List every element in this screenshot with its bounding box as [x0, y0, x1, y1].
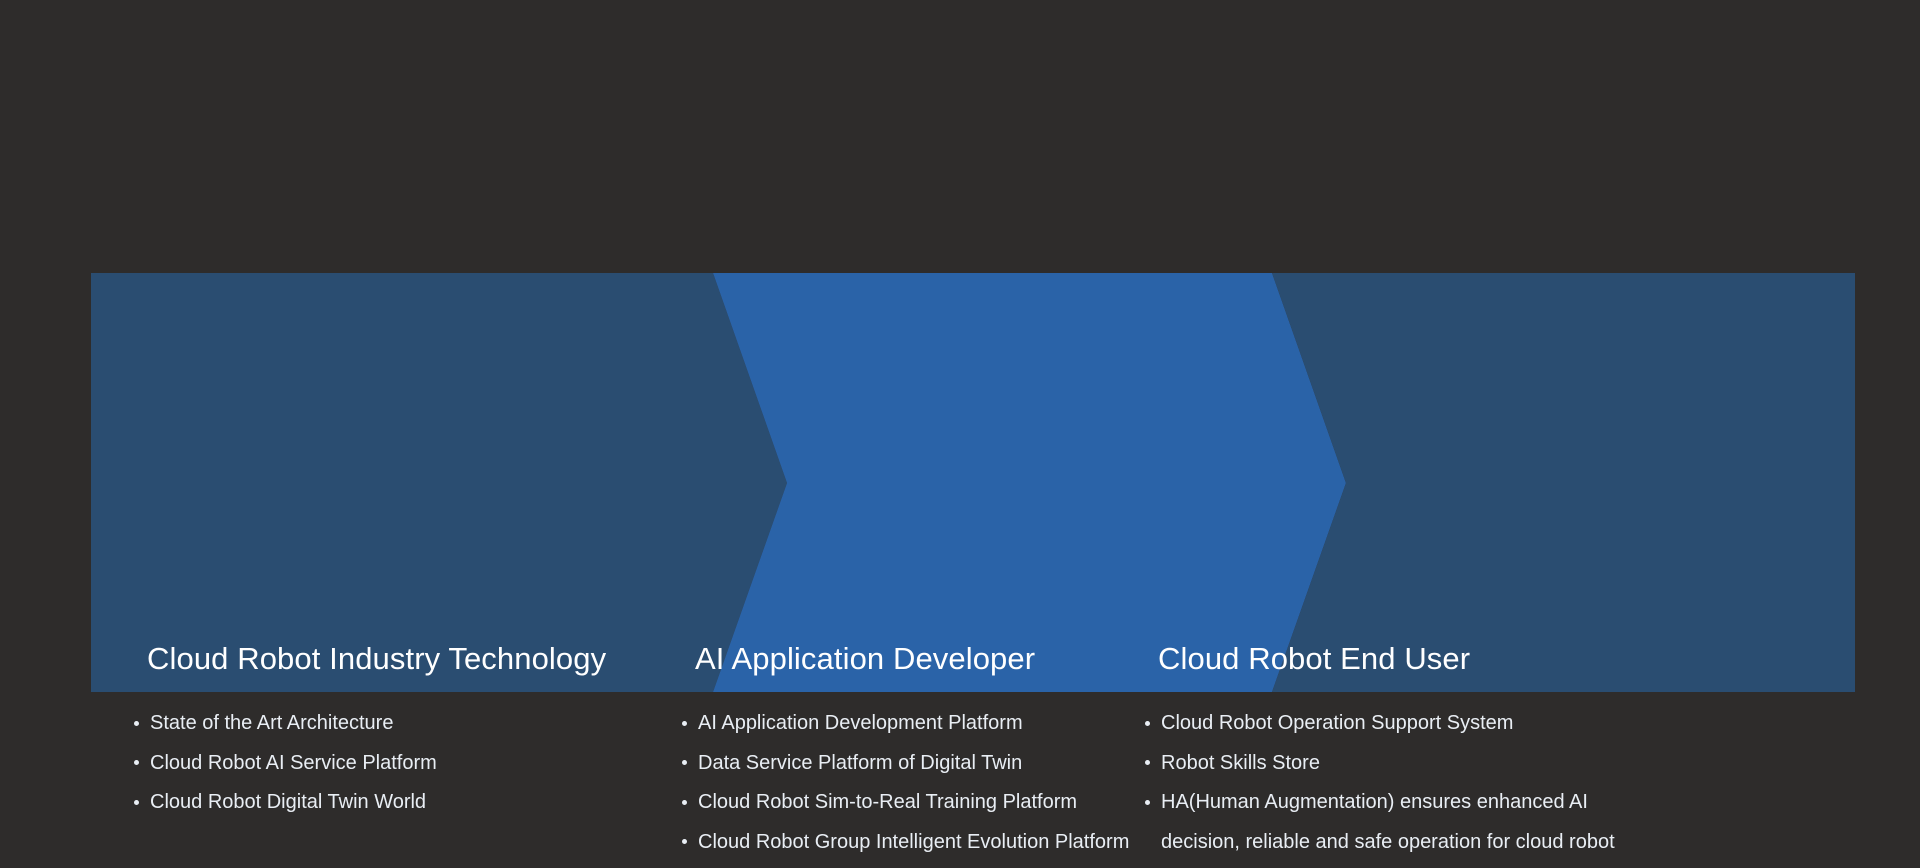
panel-1-bullet-list: State of the Art Architecture Cloud Robo…	[131, 704, 731, 823]
bullet-dot-icon	[134, 721, 139, 726]
panel-1-title: Cloud Robot Industry Technology	[147, 643, 606, 674]
list-item-label: Cloud Robot Operation Support System	[1161, 712, 1513, 734]
bullet-dot-icon	[1145, 760, 1150, 765]
bullet-dot-icon	[1145, 721, 1150, 726]
value-chain-banner: Cloud Robot Industry Technology State of…	[91, 273, 1855, 692]
list-item-label: Cloud Robot Sim-to-Real Training Platfor…	[698, 791, 1077, 813]
list-item: Cloud Robot Digital Twin World	[131, 783, 731, 823]
list-item: Robot Skills Store	[1142, 744, 1642, 784]
list-item: AI Application Development Platform	[679, 704, 1219, 744]
panel-3-inner: Cloud Robot End User Cloud Robot Operati…	[1116, 273, 1855, 692]
panel-content-layer: Cloud Robot Industry Technology State of…	[91, 273, 1855, 692]
panel-3-title: Cloud Robot End User	[1158, 643, 1470, 674]
bullet-dot-icon	[1145, 800, 1150, 805]
list-item-label: HA(Human Augmentation) ensures enhanced …	[1161, 791, 1615, 853]
bullet-dot-icon	[134, 800, 139, 805]
list-item-label: Cloud Robot Digital Twin World	[150, 791, 426, 813]
list-item: Data Service Platform of Digital Twin	[679, 744, 1219, 784]
bullet-dot-icon	[134, 760, 139, 765]
panel-cloud-robot-end-user: Cloud Robot End User Cloud Robot Operati…	[1116, 273, 1855, 692]
list-item: State of the Art Architecture	[131, 704, 731, 744]
list-item: HA(Human Augmentation) ensures enhanced …	[1142, 783, 1642, 862]
bullet-dot-icon	[682, 800, 687, 805]
list-item: Cloud Robot Operation Support System	[1142, 704, 1642, 744]
list-item-label: Cloud Robot Group Intelligent Evolution …	[698, 831, 1129, 853]
list-item-label: State of the Art Architecture	[150, 712, 393, 734]
list-item-label: Robot Skills Store	[1161, 752, 1320, 774]
list-item: Cloud Robot AI Service Platform	[131, 744, 731, 784]
list-item-label: Data Service Platform of Digital Twin	[698, 752, 1022, 774]
bullet-dot-icon	[682, 760, 687, 765]
bullet-dot-icon	[682, 839, 687, 844]
list-item: Cloud Robot Sim-to-Real Training Platfor…	[679, 783, 1219, 823]
list-item-label: Cloud Robot AI Service Platform	[150, 752, 437, 774]
panel-3-bullet-list: Cloud Robot Operation Support System Rob…	[1142, 704, 1642, 862]
list-item: Cloud Robot Group Intelligent Evolution …	[679, 823, 1219, 863]
panel-2-bullet-list: AI Application Development Platform Data…	[679, 704, 1219, 862]
panel-2-title: AI Application Developer	[695, 643, 1035, 674]
bullet-dot-icon	[682, 721, 687, 726]
list-item-label: AI Application Development Platform	[698, 712, 1023, 734]
